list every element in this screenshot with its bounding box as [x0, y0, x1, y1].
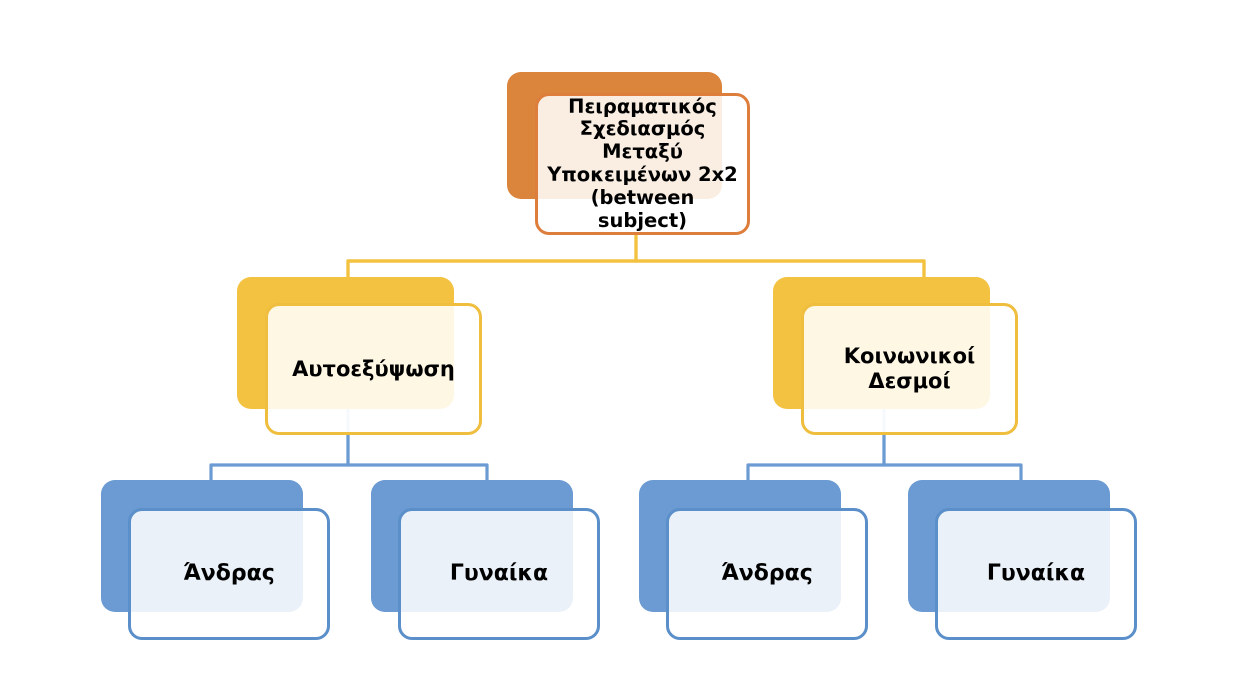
node-level3-male-self-enhancement-card[interactable]: Άνδρας [128, 508, 330, 640]
node-root-label: Πειραματικός Σχεδιασμός Μεταξύ Υποκειμέν… [538, 96, 747, 233]
node-level3-female-self-enhancement-label: Γυναίκα [444, 561, 554, 587]
node-level2-self-enhancement[interactable]: Αυτοεξύψωση [237, 277, 482, 435]
node-level3-female-self-enhancement[interactable]: Γυναίκα [371, 480, 600, 640]
connector-root-bracket [348, 261, 924, 277]
node-level2-social-bonds[interactable]: Κοινωνικοί Δεσμοί [773, 277, 1018, 435]
node-level3-male-self-enhancement-label: Άνδρας [177, 561, 281, 587]
node-level2-self-enhancement-label: Αυτοεξύψωση [286, 357, 461, 382]
node-level3-female-self-enhancement-card[interactable]: Γυναίκα [398, 508, 600, 640]
hierarchy-diagram: Πειραματικός Σχεδιασμός Μεταξύ Υποκειμέν… [0, 0, 1260, 694]
node-level3-male-social-bonds[interactable]: Άνδρας [639, 480, 868, 640]
node-root[interactable]: Πειραματικός Σχεδιασμός Μεταξύ Υποκειμέν… [507, 72, 750, 235]
connector-l2b-bracket [748, 465, 1021, 480]
node-root-card[interactable]: Πειραματικός Σχεδιασμός Μεταξύ Υποκειμέν… [535, 93, 750, 235]
node-level3-female-social-bonds-label: Γυναίκα [981, 561, 1091, 587]
node-level3-female-social-bonds-card[interactable]: Γυναίκα [935, 508, 1137, 640]
node-level3-female-social-bonds[interactable]: Γυναίκα [908, 480, 1137, 640]
connector-root-to-level2 [348, 235, 924, 277]
node-level3-male-social-bonds-card[interactable]: Άνδρας [666, 508, 868, 640]
node-level3-male-self-enhancement[interactable]: Άνδρας [101, 480, 330, 640]
connector-l2a-bracket [211, 465, 487, 480]
node-level2-social-bonds-label: Κοινωνικοί Δεσμοί [838, 344, 981, 393]
node-level3-male-social-bonds-label: Άνδρας [715, 561, 819, 587]
node-level2-social-bonds-card[interactable]: Κοινωνικοί Δεσμοί [801, 303, 1018, 435]
node-level2-self-enhancement-card[interactable]: Αυτοεξύψωση [265, 303, 482, 435]
